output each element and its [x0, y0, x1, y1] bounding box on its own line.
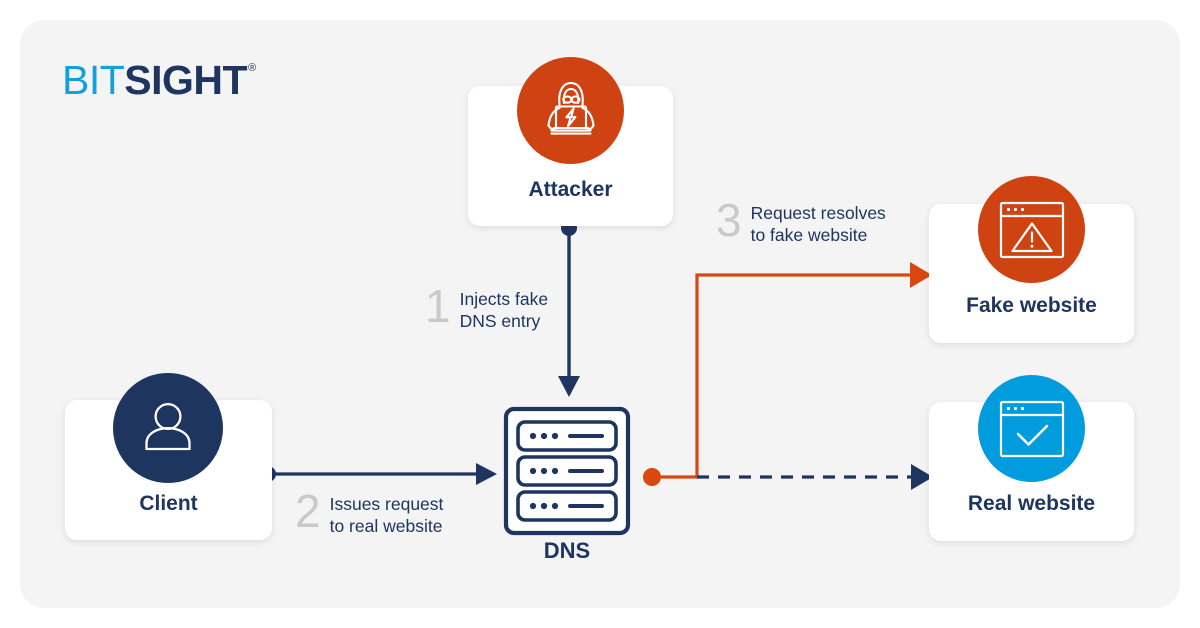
step-text-3-line2: to fake website — [751, 224, 886, 246]
step-text-3-line1: Request resolves — [751, 202, 886, 224]
logo-text-sight: SIGHT — [124, 57, 247, 103]
step-label-1: 1 Injects fake DNS entry — [425, 284, 548, 333]
bitsight-logo: BITSIGHT® — [62, 60, 255, 101]
step-label-3: 3 Request resolves to fake website — [716, 198, 886, 247]
step-text-1: Injects fake DNS entry — [460, 284, 549, 333]
browser-warning-icon — [978, 176, 1085, 283]
step-text-2-line2: to real website — [330, 515, 444, 537]
node-group-dns[interactable]: DNS — [503, 406, 631, 576]
step-text-2-line1: Issues request — [330, 493, 444, 515]
user-person-icon — [113, 373, 223, 483]
node-label-fake-website: Fake website — [929, 294, 1134, 318]
step-number-2: 2 — [295, 489, 321, 533]
logo-text-bit: BIT — [62, 57, 124, 103]
node-label-dns: DNS — [483, 538, 651, 564]
step-label-2: 2 Issues request to real website — [295, 489, 443, 538]
step-number-1: 1 — [425, 284, 451, 328]
step-text-2: Issues request to real website — [330, 489, 444, 538]
logo-trademark-symbol: ® — [248, 62, 256, 74]
node-label-real-website: Real website — [929, 492, 1134, 516]
diagram-root: BITSIGHT® 1 Injects fake — [0, 0, 1200, 628]
step-text-3: Request resolves to fake website — [751, 198, 886, 247]
step-text-1-line2: DNS entry — [460, 310, 549, 332]
step-number-3: 3 — [716, 198, 742, 242]
server-rack-icon — [503, 406, 631, 536]
browser-checkmark-icon — [978, 375, 1085, 482]
step-text-1-line1: Injects fake — [460, 288, 549, 310]
node-label-attacker: Attacker — [468, 178, 673, 202]
node-label-client: Client — [65, 492, 272, 516]
hacker-laptop-icon — [517, 57, 624, 164]
